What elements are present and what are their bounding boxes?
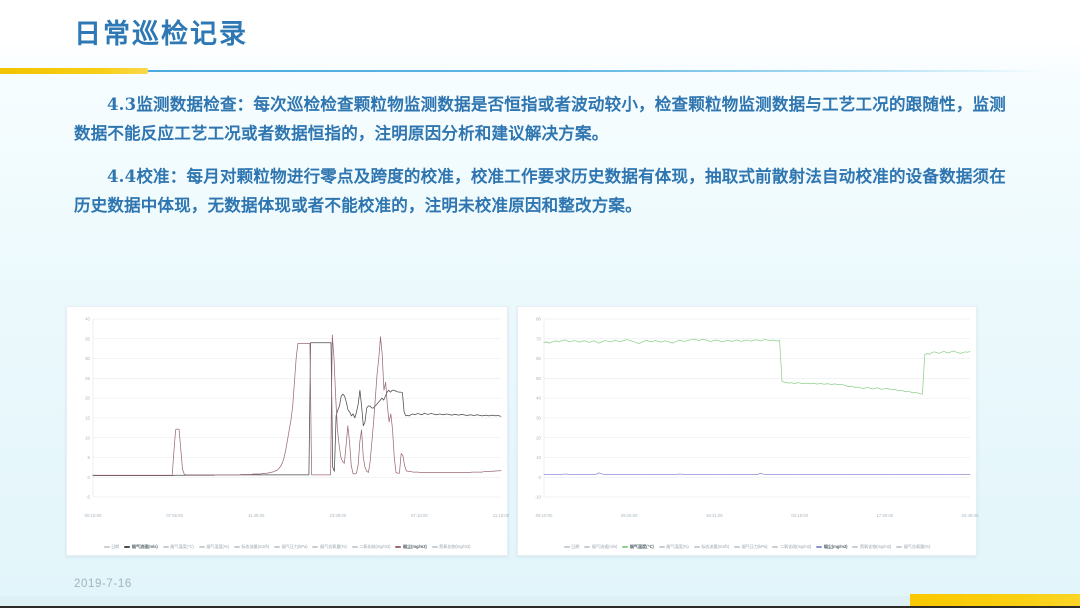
legend-swatch-icon — [352, 546, 358, 547]
legend-item[interactable]: 日期 — [564, 544, 580, 550]
footer-light-bar — [0, 596, 910, 606]
body-content: 4.3监测数据检查：每次巡检检查颗粒物监测数据是否恒指或者波动较小，检查颗粒物监… — [74, 90, 1006, 234]
chart-legend-right[interactable]: 日期烟气流速(m/s)烟气温度(℃)烟气湿度(%)标态流量(m3/h)烟气压力(… — [518, 544, 976, 550]
svg-text:30: 30 — [85, 356, 90, 361]
legend-label: 烟尘(mg/m3) — [824, 544, 848, 550]
legend-swatch-icon — [852, 546, 858, 547]
x-axis-tick: 07:55:00 — [166, 513, 183, 518]
svg-text:35: 35 — [85, 336, 90, 341]
x-axis-tick: 03:15:00 — [791, 513, 808, 518]
legend-item[interactable]: 氮氧化物(mg/m3) — [852, 544, 891, 550]
legend-swatch-icon — [163, 546, 169, 547]
legend-swatch-icon — [694, 546, 700, 547]
chart-right-inner: 80706050403020100-10 00:10:0009:15:0018:… — [518, 307, 976, 555]
line-chart-left: 4035302520151050-5 — [67, 313, 507, 509]
svg-text:0: 0 — [88, 475, 91, 480]
x-axis-tick: 18:21:00 — [706, 513, 723, 518]
x-axis-tick: 00:10:00 — [85, 513, 102, 518]
chart-card-left[interactable]: 4035302520151050-5 00:10:0007:55:0011:45… — [66, 306, 508, 556]
legend-item[interactable]: 标态流量(m3/h) — [234, 544, 269, 550]
legend-item[interactable]: 烟气温度(℃) — [622, 544, 653, 550]
chart-card-right[interactable]: 80706050403020100-10 00:10:0009:15:0018:… — [517, 306, 977, 556]
chart-legend-left[interactable]: 日期烟气流速(m/s)烟气温度(℃)烟气湿度(%)标态流量(m3/h)烟气压力(… — [67, 544, 507, 550]
legend-label: 烟气温度(℃) — [630, 544, 654, 550]
legend-label: 标态流量(m3/h) — [701, 544, 729, 550]
svg-text:-5: -5 — [86, 495, 90, 500]
legend-swatch-icon — [816, 546, 822, 548]
svg-text:5: 5 — [88, 455, 91, 460]
svg-text:70: 70 — [536, 336, 541, 341]
svg-text:20: 20 — [536, 435, 541, 440]
legend-item[interactable]: 烟尘(mg/m3) — [816, 544, 847, 550]
legend-label: 标态流量(m3/h) — [241, 544, 269, 550]
legend-swatch-icon — [896, 546, 902, 547]
footer-date: 2019-7-16 — [74, 578, 132, 590]
legend-label: 氮氧化物(mg/m3) — [860, 544, 891, 550]
chart-left-inner: 4035302520151050-5 00:10:0007:55:0011:45… — [67, 307, 507, 555]
x-axis-tick: 00:10:00 — [536, 513, 553, 518]
slide: 日常巡检记录 4.3监测数据检查：每次巡检检查颗粒物监测数据是否恒指或者波动较小… — [0, 0, 1080, 608]
x-axis-tick: 02:45:00 — [962, 513, 979, 518]
legend-label: 烟气含氧量(%) — [320, 544, 347, 550]
svg-text:40: 40 — [536, 396, 541, 401]
page-title: 日常巡检记录 — [74, 18, 248, 52]
svg-text:10: 10 — [536, 455, 541, 460]
legend-item[interactable]: 烟气流速(m/s) — [124, 544, 157, 550]
legend-label: 烟气湿度(%) — [206, 544, 229, 550]
svg-text:-10: -10 — [535, 495, 542, 500]
line-chart-right: 80706050403020100-10 — [518, 313, 976, 509]
legend-label: 烟气流速(m/s) — [592, 544, 617, 550]
legend-swatch-icon — [432, 546, 438, 547]
paragraph-4-4: 4.4校准：每月对颗粒物进行零点及跨度的校准，校准工作要求历史数据有体现，抽取式… — [74, 162, 1006, 220]
legend-label: 烟气含氧量(%) — [904, 544, 931, 550]
legend-label: 烟气压力(kPa) — [282, 544, 308, 550]
legend-swatch-icon — [395, 546, 401, 548]
legend-swatch-icon — [734, 546, 740, 547]
legend-label: 氮氧化物(mg/m3) — [439, 544, 470, 550]
x-axis-tick: 17:40:00 — [876, 513, 893, 518]
legend-swatch-icon — [234, 546, 240, 547]
svg-text:80: 80 — [536, 317, 541, 322]
x-axis-tick: 09:15:00 — [621, 513, 638, 518]
legend-swatch-icon — [199, 546, 205, 547]
legend-swatch-icon — [584, 546, 590, 547]
legend-item[interactable]: 标态流量(m3/h) — [694, 544, 729, 550]
svg-text:0: 0 — [539, 475, 542, 480]
legend-label: 烟气温度(℃) — [170, 544, 194, 550]
svg-text:20: 20 — [85, 396, 90, 401]
legend-swatch-icon — [659, 546, 665, 547]
legend-swatch-icon — [772, 546, 778, 547]
legend-item[interactable]: 烟气湿度(%) — [199, 544, 229, 550]
legend-label: 烟尘(mg/m3) — [403, 544, 427, 550]
x-axis-right: 00:10:0009:15:0018:21:0003:15:0017:40:00… — [518, 513, 976, 523]
legend-swatch-icon — [124, 546, 130, 548]
x-axis-tick: 11:45:00 — [248, 513, 264, 518]
legend-item[interactable]: 烟气温度(℃) — [163, 544, 194, 550]
header-divider-yellow — [0, 68, 148, 74]
legend-label: 日期 — [571, 544, 579, 550]
legend-label: 二氧化硫(mg/m3) — [780, 544, 811, 550]
svg-text:15: 15 — [85, 415, 90, 420]
svg-text:40: 40 — [85, 317, 90, 322]
legend-item[interactable]: 氮氧化物(mg/m3) — [432, 544, 471, 550]
x-axis-tick: 11:10:00 — [493, 513, 509, 518]
legend-item[interactable]: 烟气压力(kPa) — [274, 544, 307, 550]
svg-text:10: 10 — [85, 435, 90, 440]
footer-yellow-bar — [910, 594, 1080, 606]
legend-item[interactable]: 烟气压力(kPa) — [734, 544, 767, 550]
legend-label: 烟气流速(m/s) — [132, 544, 158, 550]
legend-item[interactable]: 烟气含氧量(%) — [312, 544, 346, 550]
svg-text:60: 60 — [536, 356, 541, 361]
slide-header: 日常巡检记录 — [0, 0, 1080, 70]
legend-swatch-icon — [312, 546, 318, 547]
x-axis-left: 00:10:0007:55:0011:45:0023:38:0007:15:00… — [67, 513, 507, 523]
legend-label: 烟气压力(kPa) — [742, 544, 768, 550]
svg-text:30: 30 — [536, 415, 541, 420]
header-divider-blue — [0, 70, 1080, 72]
legend-label: 烟气湿度(%) — [666, 544, 689, 550]
legend-item[interactable]: 烟气含氧量(%) — [896, 544, 930, 550]
svg-text:50: 50 — [536, 376, 541, 381]
legend-swatch-icon — [274, 546, 280, 547]
legend-label: 日期 — [111, 544, 119, 550]
paragraph-4-3: 4.3监测数据检查：每次巡检检查颗粒物监测数据是否恒指或者波动较小，检查颗粒物监… — [74, 90, 1006, 148]
legend-label: 二氧化硫(mg/m3) — [359, 544, 390, 550]
legend-item[interactable]: 二氧化硫(mg/m3) — [772, 544, 811, 550]
svg-text:25: 25 — [85, 376, 90, 381]
x-axis-tick: 23:38:00 — [329, 513, 346, 518]
legend-swatch-icon — [622, 546, 628, 548]
legend-swatch-icon — [104, 546, 110, 547]
legend-item[interactable]: 烟尘(mg/m3) — [395, 544, 426, 550]
legend-item[interactable]: 二氧化硫(mg/m3) — [352, 544, 391, 550]
legend-item[interactable]: 日期 — [104, 544, 120, 550]
legend-swatch-icon — [564, 546, 570, 547]
legend-item[interactable]: 烟气流速(m/s) — [584, 544, 617, 550]
legend-item[interactable]: 烟气湿度(%) — [659, 544, 689, 550]
x-axis-tick: 07:15:00 — [411, 513, 428, 518]
